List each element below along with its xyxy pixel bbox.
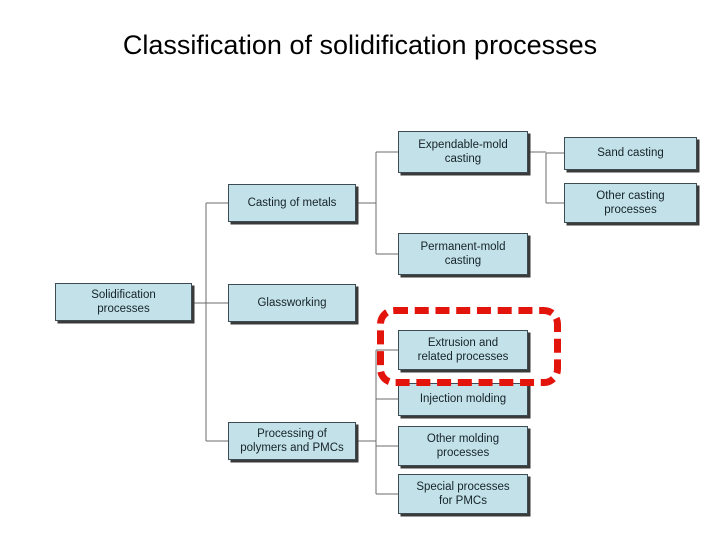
node-label: Extrusion and related processes (418, 336, 509, 365)
connector-lines (0, 0, 720, 540)
node-label: Expendable-mold casting (418, 138, 508, 167)
node-expendable-mold-casting[interactable]: Expendable-mold casting (398, 131, 528, 173)
node-injection-molding[interactable]: Injection molding (398, 383, 528, 416)
slide-canvas: Classification of solidification process… (0, 0, 720, 540)
node-label: Injection molding (420, 392, 506, 406)
node-label: Other casting processes (596, 189, 664, 218)
node-extrusion-and-related-processes[interactable]: Extrusion and related processes (398, 330, 528, 370)
node-sand-casting[interactable]: Sand casting (564, 137, 697, 170)
node-special-processes-for-pmcs[interactable]: Special processes for PMCs (398, 474, 528, 514)
node-permanent-mold-casting[interactable]: Permanent-mold casting (398, 233, 528, 275)
node-label: Permanent-mold casting (420, 240, 505, 269)
node-other-molding-processes[interactable]: Other molding processes (398, 426, 528, 466)
node-label: Sand casting (597, 146, 664, 160)
node-label: Processing of polymers and PMCs (240, 427, 344, 456)
node-label: Special processes for PMCs (416, 480, 509, 509)
node-casting-of-metals[interactable]: Casting of metals (228, 184, 356, 222)
node-label: Glassworking (257, 296, 326, 310)
page-title: Classification of solidification process… (0, 30, 720, 61)
node-label: Other molding processes (427, 432, 499, 461)
node-label: Casting of metals (248, 196, 337, 210)
node-solidification-processes[interactable]: Solidification processes (55, 283, 192, 321)
node-processing-of-polymers-and-pmcs[interactable]: Processing of polymers and PMCs (228, 422, 356, 460)
node-other-casting-processes[interactable]: Other casting processes (564, 183, 697, 223)
node-label: Solidification processes (91, 288, 156, 317)
node-glassworking[interactable]: Glassworking (228, 284, 356, 322)
